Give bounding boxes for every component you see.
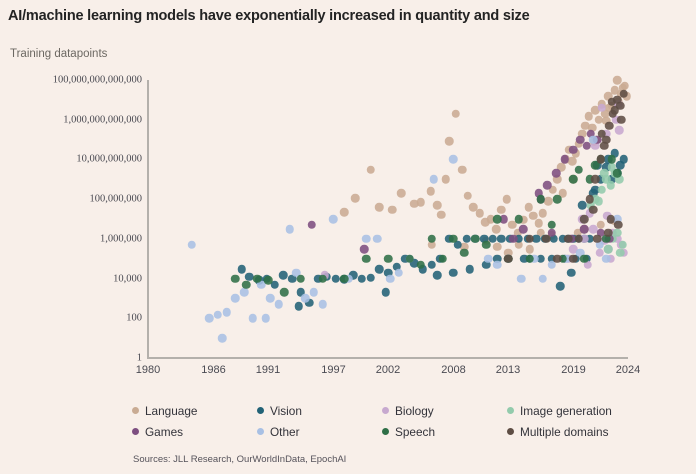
scatter-point bbox=[187, 241, 196, 250]
scatter-point bbox=[426, 187, 435, 196]
scatter-point bbox=[580, 215, 589, 224]
scatter-point bbox=[366, 166, 375, 175]
scatter-point bbox=[358, 274, 367, 283]
x-axis-tick-label: 1997 bbox=[321, 364, 345, 376]
scatter-point bbox=[433, 271, 442, 280]
scatter-point bbox=[397, 189, 406, 198]
scatter-point bbox=[449, 155, 458, 164]
y-axis-tick-label: 100 bbox=[126, 313, 142, 324]
sources-note: Sources: JLL Research, OurWorldInData, E… bbox=[133, 454, 346, 465]
y-axis-tick-label: 100,000,000 bbox=[90, 194, 143, 205]
scatter-point bbox=[475, 209, 484, 218]
scatter-point bbox=[616, 248, 625, 257]
legend-item-multiple-domains[interactable]: Multiple domains bbox=[507, 425, 652, 439]
scatter-point bbox=[331, 274, 340, 283]
scatter-point bbox=[591, 175, 600, 184]
scatter-point bbox=[589, 135, 598, 144]
scatter-point bbox=[509, 235, 518, 244]
scatter-point bbox=[567, 268, 576, 277]
scatter-point bbox=[604, 229, 613, 238]
scatter-point bbox=[526, 254, 535, 263]
scatter-point bbox=[615, 126, 624, 135]
scatter-point bbox=[560, 155, 569, 164]
scatter-point bbox=[406, 254, 415, 263]
scatter-point bbox=[598, 104, 607, 113]
scatter-point bbox=[504, 254, 513, 263]
scatter-point bbox=[484, 254, 493, 263]
scatter-point bbox=[471, 235, 480, 244]
x-axis-tick-label: 2019 bbox=[561, 364, 585, 376]
scatter-point bbox=[416, 198, 425, 207]
scatter-point bbox=[449, 235, 458, 244]
y-axis-tick-label: 100,000,000,000,000 bbox=[53, 75, 142, 86]
scatter-point bbox=[613, 229, 622, 238]
scatter-point bbox=[433, 201, 442, 210]
legend-swatch-icon bbox=[507, 428, 514, 435]
scatter-point bbox=[366, 273, 375, 282]
scatter-point bbox=[460, 248, 469, 257]
scatter-point bbox=[231, 274, 240, 283]
scatter-point bbox=[482, 241, 491, 250]
legend-item-speech[interactable]: Speech bbox=[382, 425, 507, 439]
scatter-point bbox=[395, 268, 404, 277]
y-axis-tick-label: 10,000,000,000 bbox=[76, 154, 142, 165]
scatter-point bbox=[607, 155, 616, 164]
legend-row: GamesOtherSpeechMultiple domains bbox=[132, 421, 652, 442]
scatter-point bbox=[318, 300, 327, 309]
x-axis-tick-label: 1980 bbox=[136, 364, 160, 376]
y-axis-tick-label: 1,000,000,000,000 bbox=[63, 114, 142, 125]
legend-item-language[interactable]: Language bbox=[132, 404, 257, 418]
scatter-point bbox=[430, 175, 439, 184]
scatter-point bbox=[238, 265, 247, 274]
scatter-point bbox=[539, 274, 548, 283]
scatter-point bbox=[569, 175, 578, 184]
scatter-point bbox=[375, 265, 384, 274]
legend-label: Games bbox=[145, 425, 183, 439]
scatter-point bbox=[606, 181, 615, 190]
x-axis-tick-label: 1991 bbox=[256, 364, 280, 376]
scatter-point bbox=[382, 288, 391, 297]
scatter-point bbox=[598, 185, 607, 194]
scatter-point bbox=[607, 98, 616, 107]
scatter-point bbox=[613, 169, 622, 178]
scatter-point bbox=[589, 205, 598, 214]
scatter-point bbox=[466, 265, 475, 274]
scatter-point bbox=[438, 254, 447, 263]
scatter-point bbox=[427, 260, 436, 269]
scatter-point bbox=[286, 225, 295, 234]
scatter-point bbox=[458, 166, 467, 175]
scatter-point bbox=[329, 215, 338, 224]
scatter-point bbox=[493, 243, 502, 252]
scatter-point bbox=[296, 274, 305, 283]
scatter-point bbox=[242, 280, 251, 289]
scatter-point bbox=[253, 274, 262, 283]
scatter-point bbox=[542, 235, 551, 244]
scatter-point bbox=[318, 274, 327, 283]
scatter-point bbox=[553, 254, 562, 263]
scatter-point bbox=[493, 260, 502, 269]
scatter-point bbox=[593, 235, 602, 244]
scatter-point bbox=[547, 221, 556, 230]
scatter-point bbox=[248, 314, 257, 323]
scatter-point bbox=[301, 294, 310, 303]
scatter-point bbox=[575, 166, 584, 175]
scatter-point bbox=[280, 288, 289, 297]
scatter-point bbox=[497, 205, 506, 214]
scatter-point bbox=[231, 294, 240, 303]
x-axis-tick-label: 2013 bbox=[496, 364, 520, 376]
scatter-point bbox=[556, 282, 565, 291]
scatter-point bbox=[553, 195, 562, 204]
y-axis-tick-label: 1,000,000 bbox=[100, 233, 142, 244]
y-axis-tick-label: 1 bbox=[137, 353, 142, 364]
scatter-point bbox=[266, 294, 275, 303]
scatter-point bbox=[605, 121, 614, 130]
legend-item-vision[interactable]: Vision bbox=[257, 404, 382, 418]
scatter-point bbox=[373, 235, 382, 244]
scatter-point bbox=[222, 308, 231, 317]
scatter-point bbox=[388, 205, 397, 214]
scatter-point bbox=[569, 146, 578, 155]
scatter-point bbox=[617, 115, 626, 124]
scatter-point bbox=[580, 225, 589, 234]
legend-swatch-icon bbox=[507, 407, 514, 414]
legend-swatch-icon bbox=[257, 428, 264, 435]
x-axis-tick-label: 2008 bbox=[441, 364, 465, 376]
scatter-point bbox=[463, 191, 472, 200]
scatter-point bbox=[503, 195, 512, 204]
scatter-point bbox=[384, 254, 393, 263]
scatter-point bbox=[262, 314, 271, 323]
legend-label: Language bbox=[145, 404, 198, 418]
scatter-point bbox=[619, 155, 628, 164]
scatter-point bbox=[492, 225, 501, 234]
scatter-point bbox=[497, 235, 506, 244]
scatter-point bbox=[600, 141, 609, 150]
scatter-point bbox=[586, 195, 595, 204]
scatter-point bbox=[362, 254, 371, 263]
scatter-plot-area bbox=[148, 80, 628, 358]
legend-item-biology[interactable]: Biology bbox=[382, 404, 507, 418]
scatter-point bbox=[575, 235, 584, 244]
legend-swatch-icon bbox=[382, 407, 389, 414]
scatter-point bbox=[340, 274, 349, 283]
scatter-point bbox=[564, 235, 573, 244]
legend-swatch-icon bbox=[132, 407, 139, 414]
scatter-point bbox=[594, 197, 603, 206]
scatter-point bbox=[539, 209, 548, 218]
legend-item-games[interactable]: Games bbox=[132, 425, 257, 439]
scatter-point bbox=[517, 274, 526, 283]
scatter-point bbox=[351, 194, 360, 203]
scatter-point bbox=[524, 203, 533, 212]
x-axis-tick-label: 2002 bbox=[376, 364, 400, 376]
scatter-point bbox=[437, 211, 446, 220]
legend-label: Multiple domains bbox=[520, 425, 609, 439]
chart-legend: LanguageVisionBiologyImage generationGam… bbox=[132, 400, 652, 442]
scatter-point bbox=[449, 268, 458, 277]
legend-label: Speech bbox=[395, 425, 435, 439]
scatter-point bbox=[604, 245, 613, 254]
scatter-point bbox=[294, 302, 303, 311]
y-axis-tick-label: 10,000 bbox=[113, 273, 142, 284]
legend-item-other[interactable]: Other bbox=[257, 425, 382, 439]
scatter-point bbox=[568, 157, 577, 166]
legend-swatch-icon bbox=[132, 428, 139, 435]
scatter-point bbox=[214, 311, 223, 320]
scatter-point bbox=[205, 314, 214, 323]
scatter-point bbox=[519, 225, 528, 234]
legend-item-image-generation[interactable]: Image generation bbox=[507, 404, 652, 418]
scatter-point bbox=[534, 219, 543, 228]
scatter-point bbox=[279, 271, 288, 280]
scatter-point bbox=[598, 129, 607, 138]
scatter-point bbox=[310, 288, 319, 297]
legend-label: Vision bbox=[270, 404, 302, 418]
scatter-point bbox=[552, 169, 561, 178]
scatter-point bbox=[580, 254, 589, 263]
scatter-point bbox=[375, 203, 384, 212]
scatter-point bbox=[445, 137, 454, 146]
scatter-point bbox=[596, 155, 605, 164]
scatter-point bbox=[360, 245, 369, 254]
x-axis-tick-label: 2024 bbox=[616, 364, 640, 376]
scatter-point bbox=[600, 169, 609, 178]
y-axis-labels: 100,000,000,000,0001,000,000,000,00010,0… bbox=[0, 0, 142, 474]
scatter-point bbox=[240, 288, 249, 297]
chart-container: AI/machine learning models have exponent… bbox=[0, 0, 696, 474]
scatter-point bbox=[264, 276, 273, 285]
scatter-point bbox=[614, 221, 623, 230]
scatter-point bbox=[526, 235, 535, 244]
scatter-point bbox=[619, 90, 628, 99]
scatter-point bbox=[462, 235, 471, 244]
scatter-point bbox=[362, 235, 371, 244]
x-axis-tick-label: 1986 bbox=[201, 364, 225, 376]
legend-label: Image generation bbox=[520, 404, 612, 418]
legend-label: Biology bbox=[395, 404, 434, 418]
legend-label: Other bbox=[270, 425, 300, 439]
scatter-point bbox=[578, 201, 587, 210]
scatter-point bbox=[386, 274, 395, 283]
scatter-point bbox=[340, 208, 349, 217]
scatter-point bbox=[493, 215, 502, 224]
scatter-point bbox=[451, 109, 460, 118]
scatter-point bbox=[543, 181, 552, 190]
scatter-point bbox=[427, 235, 436, 244]
scatter-point bbox=[307, 221, 316, 230]
legend-swatch-icon bbox=[382, 428, 389, 435]
scatter-point bbox=[218, 334, 227, 343]
scatter-point bbox=[526, 245, 535, 254]
scatter-point bbox=[544, 197, 553, 206]
scatter-point bbox=[602, 254, 611, 263]
scatter-point bbox=[515, 215, 524, 224]
scatter-point bbox=[442, 175, 451, 184]
scatter-point bbox=[611, 106, 620, 115]
legend-row: LanguageVisionBiologyImage generation bbox=[132, 400, 652, 421]
scatter-point bbox=[536, 195, 545, 204]
scatter-point bbox=[416, 260, 425, 269]
scatter-point bbox=[569, 254, 578, 263]
legend-swatch-icon bbox=[257, 407, 264, 414]
scatter-point bbox=[275, 300, 284, 309]
